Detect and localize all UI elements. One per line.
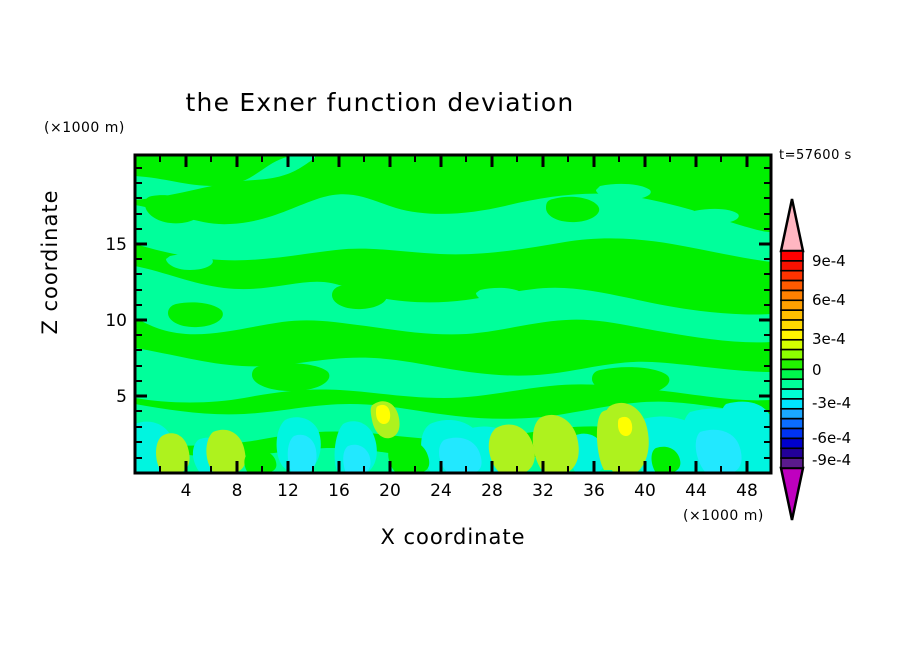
x-tick-label: 44 [685, 481, 707, 501]
x-tick-label: 16 [328, 481, 350, 501]
colorbar-label: 9e-4 [812, 252, 846, 270]
colorbar[interactable]: 9e-4 6e-4 3e-4 0 -3e-4 -6e-4 -9e-4 [781, 199, 851, 520]
x-tick-label: 40 [634, 481, 656, 501]
colorbar-labels: 9e-4 6e-4 3e-4 0 -3e-4 -6e-4 -9e-4 [812, 252, 851, 469]
x-tick-label: 12 [277, 481, 299, 501]
y-tick-label: 5 [116, 387, 127, 407]
x-tick-label: 28 [481, 481, 503, 501]
x-tick-label: 8 [232, 481, 243, 501]
colorbar-label: 6e-4 [812, 291, 846, 309]
x-tick-label: 48 [736, 481, 758, 501]
colorbar-label: 0 [812, 361, 822, 379]
colorbar-label: 3e-4 [812, 330, 846, 348]
x-tick-label: 36 [583, 481, 605, 501]
contour-plot: 4 8 12 16 20 24 28 32 36 40 44 48 [0, 0, 904, 654]
figure-canvas: the Exner function deviation (×1000 m) Z… [0, 0, 904, 654]
y-tick-label: 10 [105, 311, 127, 331]
contour-field [135, 155, 771, 474]
x-tick-label: 24 [430, 481, 452, 501]
colorbar-label: -6e-4 [812, 429, 851, 447]
colorbar-over-arrow [781, 199, 803, 251]
x-tick-label: 20 [379, 481, 401, 501]
x-tick-label: 4 [181, 481, 192, 501]
colorbar-label: -3e-4 [812, 394, 851, 412]
y-tick-label: 15 [105, 235, 127, 255]
x-tick-labels: 4 8 12 16 20 24 28 32 36 40 44 48 [181, 481, 758, 501]
colorbar-segments [781, 251, 803, 468]
x-tick-label: 32 [532, 481, 554, 501]
colorbar-under-arrow [781, 468, 803, 520]
colorbar-label: -9e-4 [812, 451, 851, 469]
y-tick-labels: 5 10 15 [105, 235, 127, 407]
